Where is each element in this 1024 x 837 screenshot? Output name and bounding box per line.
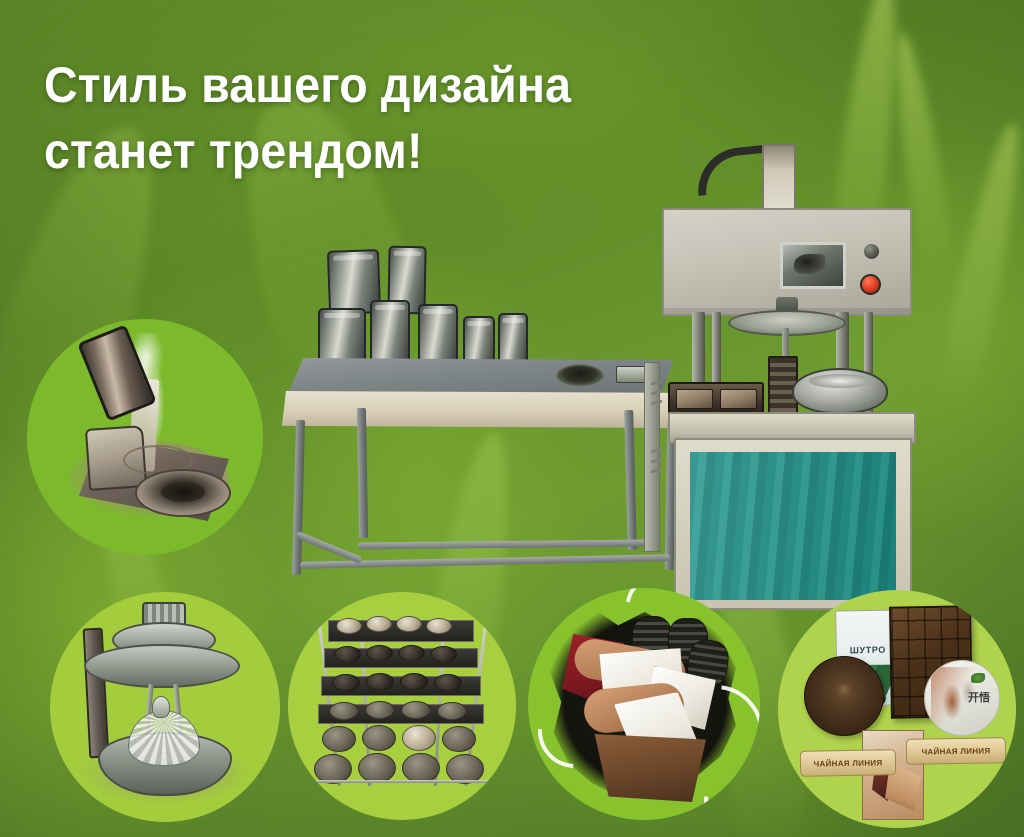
product-wrapper-round: 开悟 [924,660,1000,736]
drying-rack-illustration [288,592,516,820]
steam-mold-ring [135,469,231,517]
vent-slot [651,380,662,386]
tea-cake [362,725,396,751]
tea-cake [334,646,361,662]
work-table-illustration [280,358,680,588]
wrapping-illustration [528,588,760,820]
cloth-knot [152,696,170,718]
wrapper-chinese-label: 开悟 [968,689,990,705]
tea-brick [720,389,757,409]
power-button-icon[interactable] [860,274,881,295]
press-column-stack [762,144,796,218]
table-rail [295,531,363,564]
tea-cake [365,701,395,719]
tea-cake [366,673,394,690]
brand-sign-right: ЧАЙНАЯ ЛИНИЯ [906,737,1006,765]
feature-circle-wrapping [528,588,760,820]
tea-cake [402,753,440,783]
display-screen [780,242,846,289]
pressing-illustration [50,592,280,822]
tea-brick [676,389,713,409]
feature-circle-steaming [27,319,263,555]
table-steam-port [556,364,604,386]
table-rail [358,539,648,549]
vent-slot [651,400,662,406]
tea-cake [402,725,436,751]
tea-cake [322,726,356,752]
pressed-tea-cake-disc [804,656,884,736]
tea-cake [398,645,425,661]
tea-cake [396,616,422,632]
feature-circle-pressing [50,592,280,822]
table-leg [624,410,637,550]
vent-slot [651,458,662,464]
steaming-illustration [27,319,263,555]
brand-sign-left-text: ЧАЙНАЯ ЛИНИЯ [813,758,882,768]
tea-mold-canister [418,304,458,366]
tea-cake [332,674,360,691]
tea-cake [336,618,362,634]
tea-cake [366,645,393,661]
feature-circle-drying [288,592,516,820]
brand-sign-left: ЧАЙНАЯ ЛИНИЯ [800,749,896,777]
press-machine-illustration [640,112,930,602]
table-apron [282,391,678,428]
tea-cake [358,753,396,783]
tea-cake [401,701,431,719]
feature-circle-products: ШУТРО 开悟 ЧАЙНАЯ ЛИНИЯ ЧАЙНАЯ ЛИНИЯ [778,590,1016,828]
tea-cake [442,726,476,752]
machine-cabinet [674,438,912,610]
tea-cake [437,702,467,720]
products-illustration: ШУТРО 开悟 ЧАЙНАЯ ЛИНИЯ ЧАЙНАЯ ЛИНИЯ [778,590,1016,828]
tea-cake [430,646,457,662]
vent-slot [651,448,662,454]
press-side-column [644,362,660,552]
tea-cake [329,702,359,720]
brand-sign-right-text: ЧАЙНАЯ ЛИНИЯ [921,746,990,756]
table-leg [292,420,305,575]
tea-cake [434,674,462,691]
leaf-logo-icon [971,673,985,683]
table-leg [357,408,368,538]
tea-mold-canister [463,316,495,366]
steel-pot [792,368,888,414]
rack-base-rail [310,780,492,783]
tea-mold-canister [370,300,410,364]
press-pillar [83,628,110,759]
cabinet-teal-panel [690,452,896,600]
tea-cake [426,618,452,634]
tea-mold-canister [318,308,366,366]
tea-cake [400,673,428,690]
cloth-wrapped-tea [128,710,200,766]
press-weight-disc [84,644,240,688]
tea-mold-canister [498,313,528,365]
tea-equipment-banner: Стиль вашего дизайна станет трендом! [0,0,1024,837]
vent-slot [651,468,662,474]
vent-slot [651,390,662,396]
tea-cake [366,616,392,632]
control-knob-icon[interactable] [864,244,879,259]
